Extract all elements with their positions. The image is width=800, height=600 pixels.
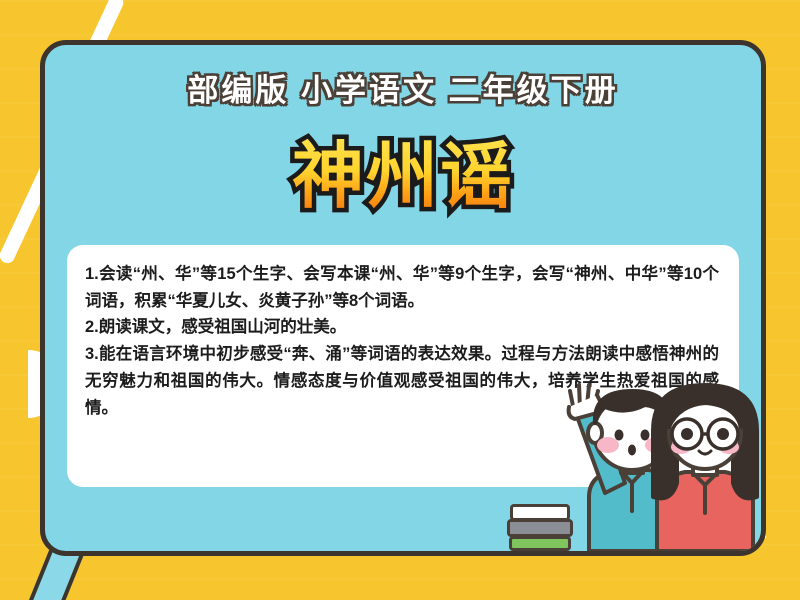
objective-item-2: 2.朗读课文，感受祖国山河的壮美。: [85, 314, 719, 341]
stacked-books-icon: [507, 505, 573, 551]
book-bottom: [509, 536, 571, 551]
lesson-title-wrapper: 神州谣 神州谣: [45, 129, 761, 225]
objectives-card: 1.会读“州、华”等15个生字、会写本课“州、华”等9个生字，会写“神州、中华”…: [67, 245, 739, 487]
lesson-title: 神州谣 神州谣: [292, 129, 514, 225]
objective-item-1: 1.会读“州、华”等15个生字、会写本课“州、华”等9个生字，会写“神州、中华”…: [85, 261, 719, 314]
main-panel: 部编版 小学语文 二年级下册 神州谣 神州谣 1.会读“州、华”等15个生字、会…: [40, 40, 766, 556]
slide-canvas: 部编版 小学语文 二年级下册 神州谣 神州谣 1.会读“州、华”等15个生字、会…: [0, 0, 800, 600]
objective-item-3: 3.能在语言环境中初步感受“奔、涌”等词语的表达效果。过程与方法朗读中感悟神州的…: [85, 341, 719, 421]
lesson-title-fill: 神州谣: [292, 137, 514, 217]
book-middle: [507, 519, 573, 537]
course-header: 部编版 小学语文 二年级下册: [45, 65, 761, 110]
book-top: [510, 504, 570, 521]
objectives-text: 1.会读“州、华”等15个生字、会写本课“州、华”等9个生字，会写“神州、中华”…: [85, 261, 719, 421]
